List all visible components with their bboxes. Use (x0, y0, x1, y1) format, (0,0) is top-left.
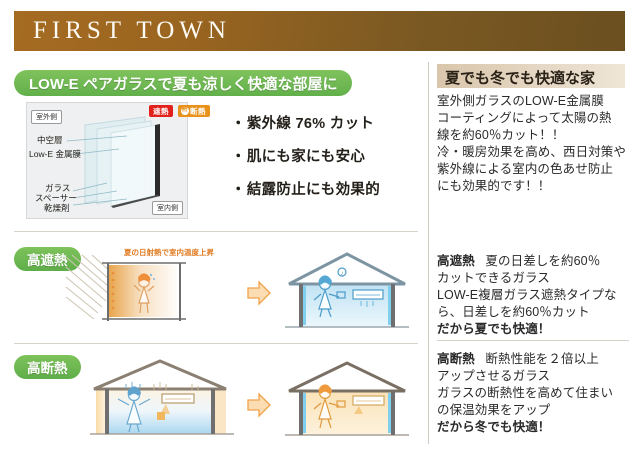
outside-side-label: 室外側 (31, 110, 62, 124)
right-panel-intro: 室外側ガラスのLOW-E金属膜 コーティングによって太陽の熱 線を約60％カット… (437, 93, 629, 195)
block-line: の保温効果をアップ (437, 402, 629, 419)
winter-warm-house-illustration (281, 360, 413, 448)
title-bar: FIRST TOWN (14, 11, 625, 51)
block-lead: 断熱性能を２倍以上 (485, 352, 598, 366)
block-title: 高遮熱 (437, 254, 475, 268)
summer-cool-house-illustration: ♪ (281, 250, 413, 340)
status-badge-shanetsu: 遮熱 (149, 105, 173, 117)
list-item: 結露防止にも効果的 (231, 178, 406, 199)
outside-side-tag: 室外側 (31, 106, 62, 124)
right-arrow-icon-2 (246, 392, 272, 418)
winter-cold-house-illustration (88, 358, 238, 446)
block-line: カットできるガラス (437, 270, 629, 287)
right-panel-header-label: 夏でも冬でも快適な家 (445, 67, 595, 88)
feature-bullet-list: 紫外線 76% カット 肌にも家にも安心 結露防止にも効果的 (231, 112, 406, 211)
callout-air-layer: 中空層 (37, 134, 63, 146)
lowe-banner: LOW-E ペアガラスで夏も涼しく快適な部屋に (14, 70, 352, 96)
block-line: ガラスの断熱性を高めて住まい (437, 385, 629, 402)
page-title: FIRST TOWN (33, 17, 231, 45)
intro-line: 紫外線による室内の色あせ防止 (437, 161, 629, 178)
status-badge-shanetsu-label: 遮熱 (153, 106, 169, 117)
svg-text:♪: ♪ (341, 271, 344, 277)
block-conclusion: だから夏でも快適！ (437, 321, 629, 338)
callout-lowe-film: Low-E 金属膜 (29, 148, 81, 160)
slide-canvas: FIRST TOWN LOW-E ペアガラスで夏も涼しく快適な部屋に (0, 0, 640, 452)
glass-cross-section-diagram: 室外側 室内側 中空層 Low-E 金属膜 ガラス スペーサー 乾燥剤 (26, 102, 188, 219)
intro-line: コーティングによって太陽の熱 (437, 110, 629, 127)
block-line: ら、日差しを約60％カット (437, 304, 629, 321)
list-item: 肌にも家にも安心 (231, 145, 406, 166)
callout-desiccant: 乾燥剤 (44, 202, 70, 214)
block-line: アップさせるガラス (437, 368, 629, 385)
status-badge-dannetsu: 熱 断熱 (178, 105, 210, 117)
right-arrow-icon (246, 280, 272, 306)
column-divider (428, 62, 429, 444)
block-line: LOW-E複層ガラス遮熱タイプな (437, 287, 629, 304)
block-heading-row: 高遮熱 夏の日差しを約60％ (437, 253, 629, 270)
right-block-dannetsu: 高断熱 断熱性能を２倍以上 アップさせるガラス ガラスの断熱性を高めて住まい の… (437, 351, 629, 436)
intro-line: にも効果的です！！ (437, 178, 629, 195)
block-conclusion: だから冬でも快適！ (437, 419, 629, 436)
block-title: 高断熱 (437, 352, 475, 366)
intro-line: 室外側ガラスのLOW-E金属膜 (437, 93, 629, 110)
label-pill-high-shanetsu-text: 高遮熱 (27, 249, 68, 269)
right-row-divider (437, 340, 629, 341)
intro-line: 冷・暖房効果を高め、西日対策や (437, 144, 629, 161)
circle-heat-icon: 熱 (181, 107, 189, 115)
intro-line: 線を約60％カット！！ (437, 127, 629, 144)
inside-side-label: 室内側 (152, 201, 183, 215)
block-lead: 夏の日差しを約60％ (485, 254, 600, 268)
status-badge-dannetsu-label: 断熱 (190, 106, 206, 117)
right-block-shanetsu: 高遮熱 夏の日差しを約60％ カットできるガラス LOW-E複層ガラス遮熱タイプ… (437, 253, 629, 338)
list-item: 紫外線 76% カット (231, 112, 406, 133)
row-divider-2 (14, 343, 418, 344)
label-pill-high-dannetsu: 高断熱 (14, 355, 81, 379)
summer-hot-room-illustration (66, 255, 186, 340)
lowe-banner-label: LOW-E ペアガラスで夏も涼しく快適な部屋に (29, 73, 338, 94)
inside-side-tag: 室内側 (152, 197, 183, 215)
row-divider-1 (14, 231, 418, 232)
label-pill-high-dannetsu-text: 高断熱 (27, 357, 68, 377)
block-heading-row: 高断熱 断熱性能を２倍以上 (437, 351, 629, 368)
right-panel-header: 夏でも冬でも快適な家 (437, 64, 625, 88)
